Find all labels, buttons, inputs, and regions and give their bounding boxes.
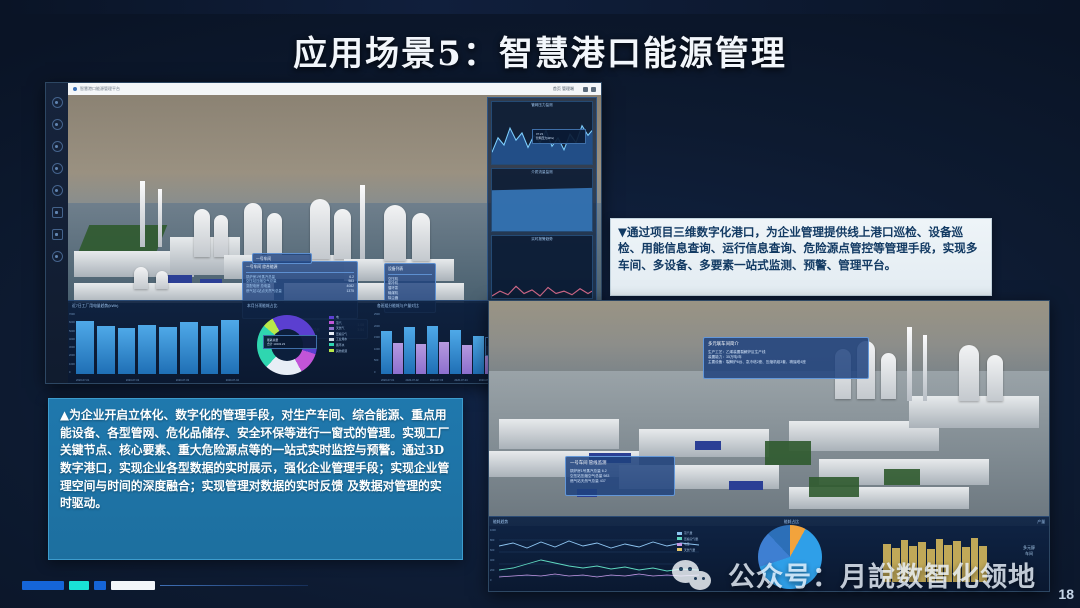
row-label: 燃气站1站点天然气总量 [246, 289, 282, 294]
card-right-list-title: 设备列表 [388, 267, 432, 275]
panel-power-bar-title: 近7日工厂用电量趋势(kWh) [72, 304, 239, 309]
app-logo-icon [73, 87, 77, 91]
bar [909, 546, 917, 582]
bar [427, 326, 438, 374]
panel-energy-line[interactable]: 能耗趋势 1000 800 600 400 200 0 [489, 517, 704, 591]
tooltip-label: 管网压力(kPa) [536, 136, 582, 140]
power-bar-xaxis: 2020-07-01 2020-07-02 2020-07-03 2020-07… [76, 379, 239, 382]
panel-energy-donut-title: 本月分项能耗占比 [247, 304, 369, 309]
user-icon[interactable] [583, 87, 588, 92]
card-device-detail-title: 一号车间 管线监测 [570, 460, 670, 467]
bar [918, 542, 926, 582]
line-yaxis: 1000 800 600 400 200 0 [490, 529, 498, 582]
deco-bar-blue-sm [94, 581, 106, 590]
bar [450, 330, 461, 374]
titlebar-menu[interactable]: 首页 管理端 [553, 86, 574, 92]
bar [404, 327, 415, 374]
card-multi-workshop[interactable]: 多元联车间简介 生产工艺：乙烯装置裂解炉区生产线 装置能力：35万吨/年 主要设… [703, 337, 869, 379]
bar [962, 547, 970, 582]
bar [462, 345, 473, 374]
bar [97, 326, 115, 374]
sidebar-icon-dashboard[interactable] [52, 119, 63, 130]
bar [180, 322, 198, 374]
bar [883, 544, 891, 582]
sidebar-icon-device[interactable] [52, 141, 63, 152]
panel-energy-line-title: 能耗趋势 [493, 520, 700, 525]
card-row: 燃气站天然气总量 437 [570, 479, 670, 484]
app-title: 智慧港口能源管理平台 [80, 86, 120, 92]
bar [473, 336, 484, 374]
bar [221, 320, 239, 374]
dashboard1-titlebar: 智慧港口能源管理平台 首页 管理端 [68, 83, 601, 95]
legend-item: 循环水 [329, 343, 347, 347]
sidebar-icon-energy[interactable] [52, 163, 63, 174]
sidebar-icon-menu[interactable] [52, 97, 63, 108]
slide-root: 应用场景5：智慧港口能源管理 [0, 0, 1080, 608]
dashboard1-sidebar[interactable] [46, 83, 68, 384]
legend-item: 压缩空气量 [677, 537, 698, 541]
page-title: 应用场景5：智慧港口能源管理 [0, 26, 1080, 75]
legend-item: 工业用水 [329, 337, 347, 341]
output-bars2 [883, 530, 987, 582]
dashboard1-right-charts: 管网压力监测 07:23 管网压力(kPa) 介质流量监测 实时报警趋势 [487, 97, 597, 303]
panel-output-bar2[interactable]: 产量 多元醇 车间 [879, 517, 1049, 591]
bar [944, 545, 952, 582]
sidebar-icon-pipe[interactable] [52, 185, 63, 196]
bar [927, 549, 935, 582]
panel-energy-donut[interactable]: 本月分项能耗占比 能耗总量 合计 13232.23 电 蒸汽 天然气 压缩空气 … [243, 301, 373, 383]
legend-item: 蒸汽 [329, 321, 347, 325]
card-device-detail[interactable]: 一号车间 管线监测 锅炉房1号蒸汽总量 6.2 空压站压缩空气总量 983 燃气… [565, 456, 675, 496]
bar [971, 538, 979, 582]
panel-output-bar2-title: 产量 [883, 520, 1045, 525]
panel-power-bar[interactable]: 近7日工厂用电量趋势(kWh) 7000 6000 5000 4000 3000… [68, 301, 243, 383]
caption-left-text: 为企业开启立体化、数字化的管理手段，对生产车间、综合能源、重点用能设备、各型管网… [60, 408, 449, 510]
row-value: 1375 [346, 289, 354, 294]
sidebar-icon-report[interactable] [52, 229, 63, 240]
dashboard-screenshot-2: 多元联车间简介 生产工艺：乙烯装置裂解炉区生产线 装置能力：35万吨/年 主要设… [488, 300, 1050, 592]
caption-right: ▼通过项目三维数字化港口，为企业管理提供线上港口巡检、设备巡检、用能信息查询、运… [610, 218, 992, 296]
legend-item: 压缩空气 [329, 332, 347, 336]
page-number: 18 [1058, 586, 1074, 602]
flow-area [492, 183, 592, 231]
overlay-label-multiyuan: 多元醇 车间 [1023, 545, 1035, 558]
caption-right-marker: ▼ [618, 225, 627, 239]
caption-left-marker: ▲ [60, 408, 69, 422]
mini-chart-alarm[interactable]: 实时报警趋势 [491, 235, 593, 299]
legend-item: 电 [329, 315, 347, 319]
legend-item: 天然气 [329, 326, 347, 330]
bar [901, 540, 909, 582]
donut-legend: 电 蒸汽 天然气 压缩空气 工业用水 循环水 其他能源 [329, 315, 347, 353]
deco-bar-cyan [69, 581, 89, 590]
legend-item: 天然气量 [677, 548, 698, 552]
sidebar-icon-settings[interactable] [52, 251, 63, 262]
caption-left: ▲为企业开启立体化、数字化的管理手段，对生产车间、综合能源、重点用能设备、各型管… [48, 398, 463, 560]
bar [416, 344, 427, 374]
alarm-sparkline [492, 250, 592, 298]
bar [439, 342, 450, 374]
legend-item: 蒸汽量 [677, 531, 698, 535]
card-workshop-title: 一号车间 [256, 257, 308, 264]
bar [953, 541, 961, 582]
power-bars [76, 314, 239, 374]
bar [138, 325, 156, 374]
bar [381, 331, 392, 374]
line-legend: 蒸汽量 压缩空气量 电量 天然气量 [677, 531, 698, 552]
card-workshop[interactable]: 一号车间 [252, 253, 312, 264]
deco-line [160, 585, 308, 586]
caption-right-text: 通过项目三维数字化港口，为企业管理提供线上港口巡检、设备巡检、用能信息查询、运行… [618, 225, 977, 272]
footer-decoration [22, 581, 308, 590]
panel-energy-pie[interactable]: 能耗占比 [704, 517, 879, 591]
bar [76, 321, 94, 374]
donut-center-value: 合计 13232.23 [267, 342, 313, 346]
bar [159, 327, 177, 374]
bar [936, 539, 944, 582]
mini-chart-pressure-title: 管网压力监测 [492, 102, 592, 108]
bar [892, 548, 900, 582]
mini-chart-flow[interactable]: 介质流量监测 [491, 168, 593, 232]
legend-item: 电量 [677, 542, 698, 546]
bar [118, 328, 136, 374]
card-energy-detail-title: 一号车间 综合能源 [246, 265, 354, 273]
deco-bar-white [111, 581, 155, 590]
settings-icon[interactable] [591, 87, 596, 92]
pressure-tooltip: 07:23 管网压力(kPa) [532, 129, 586, 143]
bar [979, 546, 987, 582]
energy-line-chart [499, 530, 699, 582]
sidebar-icon-alarm[interactable] [52, 207, 63, 218]
bar [201, 326, 219, 374]
mini-chart-pressure[interactable]: 管网压力监测 07:23 管网压力(kPa) [491, 101, 593, 165]
dashboard2-bottom-charts: 能耗趋势 1000 800 600 400 200 0 [489, 516, 1049, 591]
card-multi-workshop-title: 多元联车间简介 [708, 341, 864, 348]
energy-pie-chart [758, 525, 822, 589]
mini-chart-alarm-title: 实时报警趋势 [492, 236, 592, 242]
card-row: 主要设备：裂解炉6台、急冷塔2座、压缩机组3套、精馏塔4座 [708, 360, 864, 365]
deco-bar-blue [22, 581, 64, 590]
donut-center-tooltip: 能耗总量 合计 13232.23 [263, 335, 317, 349]
legend-item: 其他能源 [329, 349, 347, 353]
bar [393, 343, 404, 374]
mini-chart-flow-title: 介质流量监测 [492, 169, 592, 175]
